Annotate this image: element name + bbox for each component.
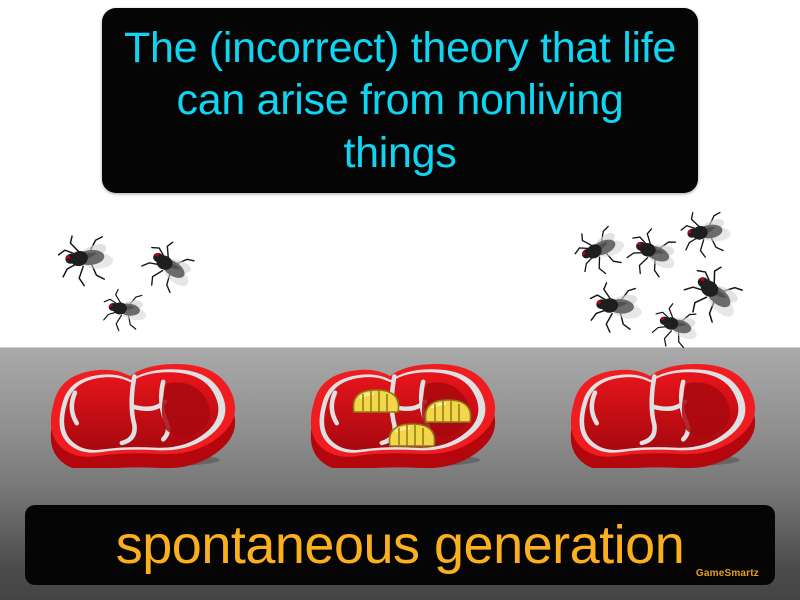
fly-right-5 [582, 273, 650, 341]
fly-right-6 [648, 298, 704, 354]
watermark-label: GameSmartz [696, 568, 759, 579]
term-banner: spontaneous generation GameSmartz [25, 505, 775, 585]
term-label: spontaneous generation [116, 518, 684, 572]
slide-canvas: The (incorrect) theory that life can ari… [0, 0, 800, 600]
